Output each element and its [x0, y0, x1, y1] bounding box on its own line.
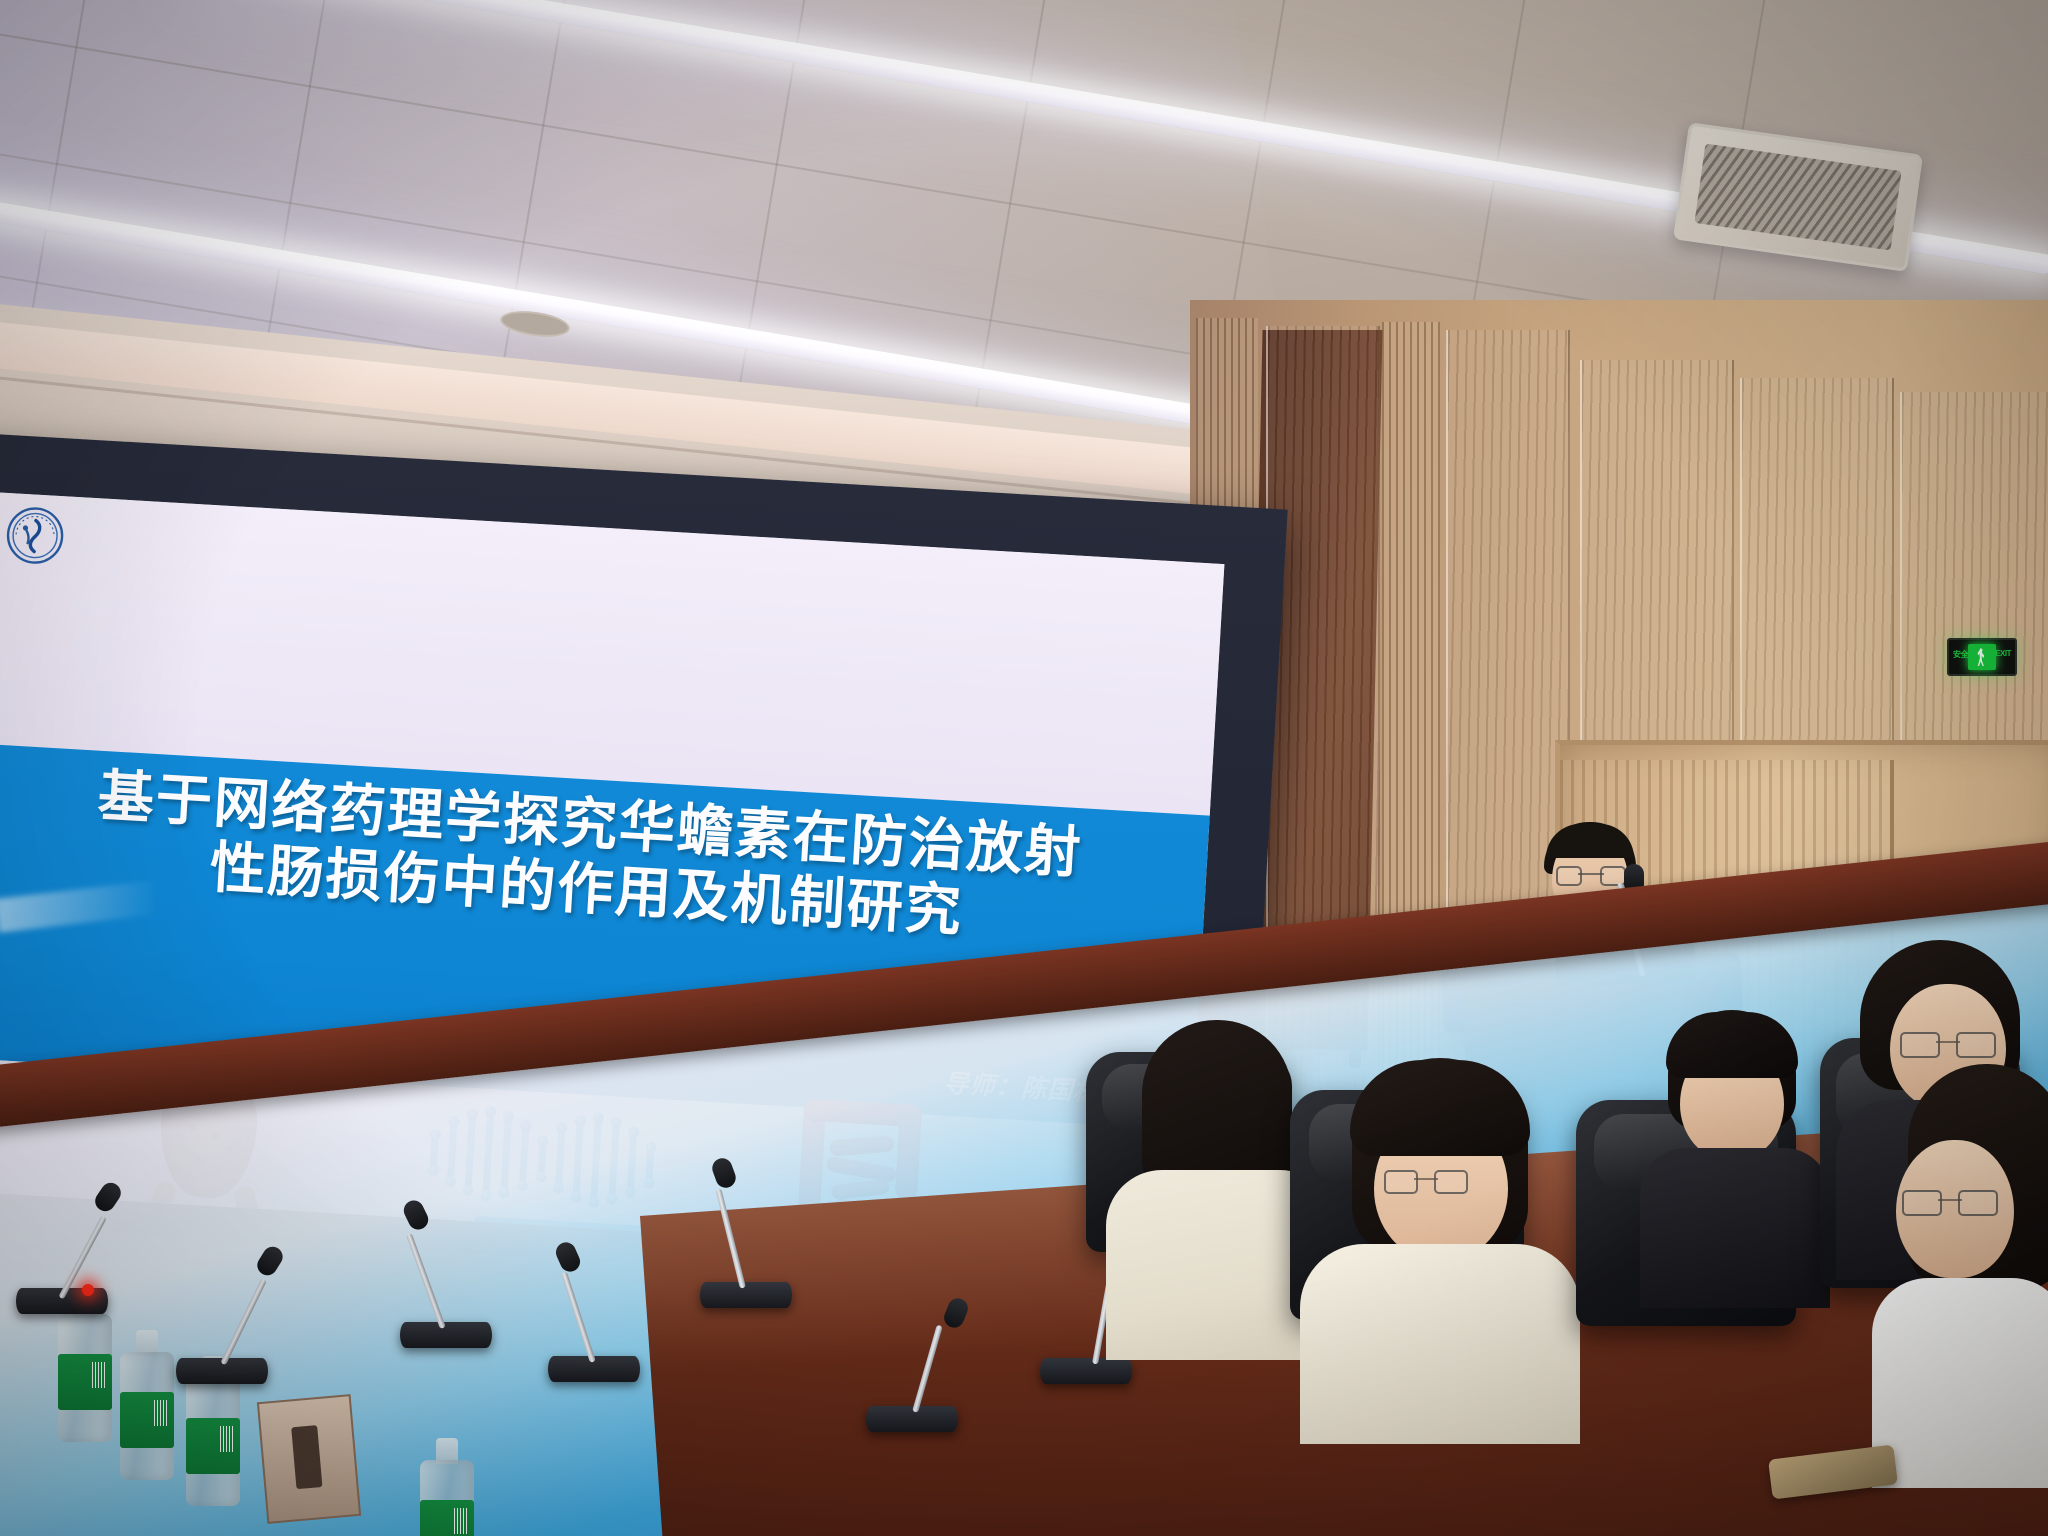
audience-glasses: [1902, 1190, 1998, 1212]
audience-glasses: [1900, 1032, 1996, 1054]
audience-member: [1640, 1010, 1830, 1300]
presenter-glasses: [1554, 866, 1628, 884]
audience-member: [1872, 1064, 2048, 1484]
water-bottle[interactable]: [118, 1330, 176, 1480]
exit-sign: 安全出口 EXIT: [1947, 638, 2017, 676]
running-man-icon: [1968, 644, 1996, 670]
audience-glasses: [1384, 1170, 1468, 1190]
desk-nameplate: [257, 1394, 361, 1524]
university-crest-icon: [2, 503, 68, 569]
presentation-room-photo: 安全出口 EXIT 基于网络药理学探究华蟾素在防治放射 性肠损伤中的作用及机制研…: [0, 0, 2048, 1536]
water-bottle[interactable]: [418, 1438, 476, 1536]
audience-member: [1300, 1058, 1580, 1438]
exit-sign-label-en: EXIT: [1995, 649, 2011, 658]
water-bottle[interactable]: [56, 1292, 114, 1442]
